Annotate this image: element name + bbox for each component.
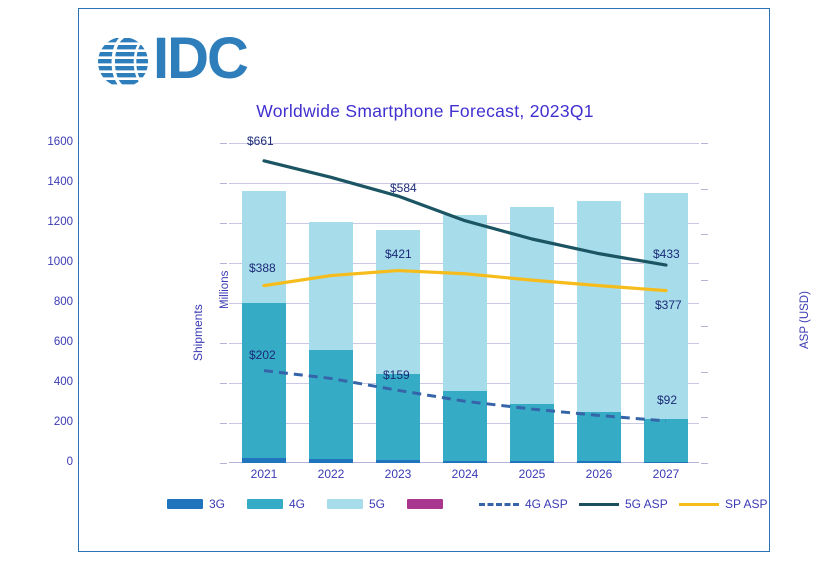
idc-wordmark: IDC bbox=[153, 29, 247, 89]
legend-label-4g-asp: 4G ASP bbox=[525, 497, 568, 511]
y-tick-label: 1000 bbox=[13, 256, 73, 268]
data-label-sp-asp-2027: $377 bbox=[655, 298, 682, 312]
legend-item-sp-asp[interactable]: SP ASP bbox=[679, 493, 767, 515]
legend-swatch-4g bbox=[247, 499, 283, 509]
data-label-5g-asp-2023: $584 bbox=[390, 181, 417, 195]
legend-item-unlabeled[interactable] bbox=[407, 493, 449, 515]
line-sp-asp bbox=[264, 271, 666, 291]
x-tick-2024: 2024 bbox=[430, 467, 500, 481]
tick-mark bbox=[701, 326, 708, 327]
y-tick-label: 1200 bbox=[13, 216, 73, 228]
legend-label-3g: 3G bbox=[209, 497, 225, 511]
tick-mark bbox=[220, 183, 227, 184]
page-title: Worldwide Smartphone Forecast, 2023Q1 bbox=[79, 101, 771, 122]
tick-mark bbox=[220, 303, 227, 304]
legend-label-4g: 4G bbox=[289, 497, 305, 511]
legend-item-5g[interactable]: 5G bbox=[327, 493, 385, 515]
tick-mark bbox=[220, 423, 227, 424]
legend-line-5g-asp bbox=[579, 503, 619, 506]
legend-swatch-unlabeled bbox=[407, 499, 443, 509]
data-label-4g-asp-2021: $202 bbox=[249, 348, 276, 362]
data-label-4g-asp-2027: $92 bbox=[657, 393, 677, 407]
legend-swatch-5g bbox=[327, 499, 363, 509]
y-tick-label: 200 bbox=[13, 416, 73, 428]
legend-label-5g-asp: 5G ASP bbox=[625, 497, 668, 511]
data-label-5g-asp-2027: $433 bbox=[653, 247, 680, 261]
data-label-sp-asp-2023: $421 bbox=[385, 247, 412, 261]
line-5g-asp bbox=[264, 161, 666, 265]
tick-mark bbox=[220, 263, 227, 264]
x-tick-2023: 2023 bbox=[363, 467, 433, 481]
x-tick-2025: 2025 bbox=[497, 467, 567, 481]
idc-globe-logo-icon bbox=[97, 36, 149, 88]
left-axis-title: Shipments bbox=[191, 304, 205, 361]
y-tick-label: 1400 bbox=[13, 176, 73, 188]
tick-mark bbox=[220, 383, 227, 384]
legend-dashline-4g-asp bbox=[479, 503, 519, 506]
tick-mark bbox=[220, 143, 227, 144]
y-tick-label: 600 bbox=[13, 336, 73, 348]
data-label-4g-asp-2023: $159 bbox=[383, 368, 410, 382]
right-axis-title: ASP (USD) bbox=[799, 291, 811, 349]
data-label-sp-asp-2021: $388 bbox=[249, 261, 276, 275]
y-tick-label: 400 bbox=[13, 376, 73, 388]
legend-label-5g: 5G bbox=[369, 497, 385, 511]
line-4g-asp bbox=[264, 371, 666, 421]
legend-line-sp-asp bbox=[679, 503, 719, 506]
line-series-layer bbox=[229, 143, 699, 463]
legend-item-3g[interactable]: 3G bbox=[167, 493, 225, 515]
legend-item-4g[interactable]: 4G bbox=[247, 493, 305, 515]
legend-item-4g-asp[interactable]: 4G ASP bbox=[479, 493, 568, 515]
legend-swatch-3g bbox=[167, 499, 203, 509]
x-tick-2022: 2022 bbox=[296, 467, 366, 481]
tick-mark bbox=[701, 143, 708, 144]
tick-mark bbox=[701, 189, 708, 190]
tick-mark bbox=[701, 463, 708, 464]
tick-mark bbox=[701, 417, 708, 418]
tick-mark bbox=[220, 343, 227, 344]
y-tick-label: 1600 bbox=[13, 136, 73, 148]
tick-mark bbox=[220, 223, 227, 224]
tick-mark bbox=[701, 234, 708, 235]
idc-logo: IDC bbox=[97, 33, 347, 93]
x-tick-2027: 2027 bbox=[631, 467, 701, 481]
plot-area: 1600 1400 1200 1000 800 600 400 200 0 $7… bbox=[229, 143, 699, 463]
x-tick-2021: 2021 bbox=[229, 467, 299, 481]
data-label-5g-asp-2021: $661 bbox=[247, 134, 274, 148]
y-tick-label: 800 bbox=[13, 296, 73, 308]
chart-frame: IDC Worldwide Smartphone Forecast, 2023Q… bbox=[78, 8, 770, 552]
tick-mark bbox=[701, 372, 708, 373]
tick-mark bbox=[220, 463, 227, 464]
y-tick-label: 0 bbox=[13, 456, 73, 468]
legend-label-sp-asp: SP ASP bbox=[725, 497, 767, 511]
x-tick-2026: 2026 bbox=[564, 467, 634, 481]
tick-mark bbox=[701, 280, 708, 281]
legend-item-5g-asp[interactable]: 5G ASP bbox=[579, 493, 668, 515]
chart-legend: 3G 4G 5G 4G ASP 5G ASP SP ASP bbox=[79, 493, 771, 519]
